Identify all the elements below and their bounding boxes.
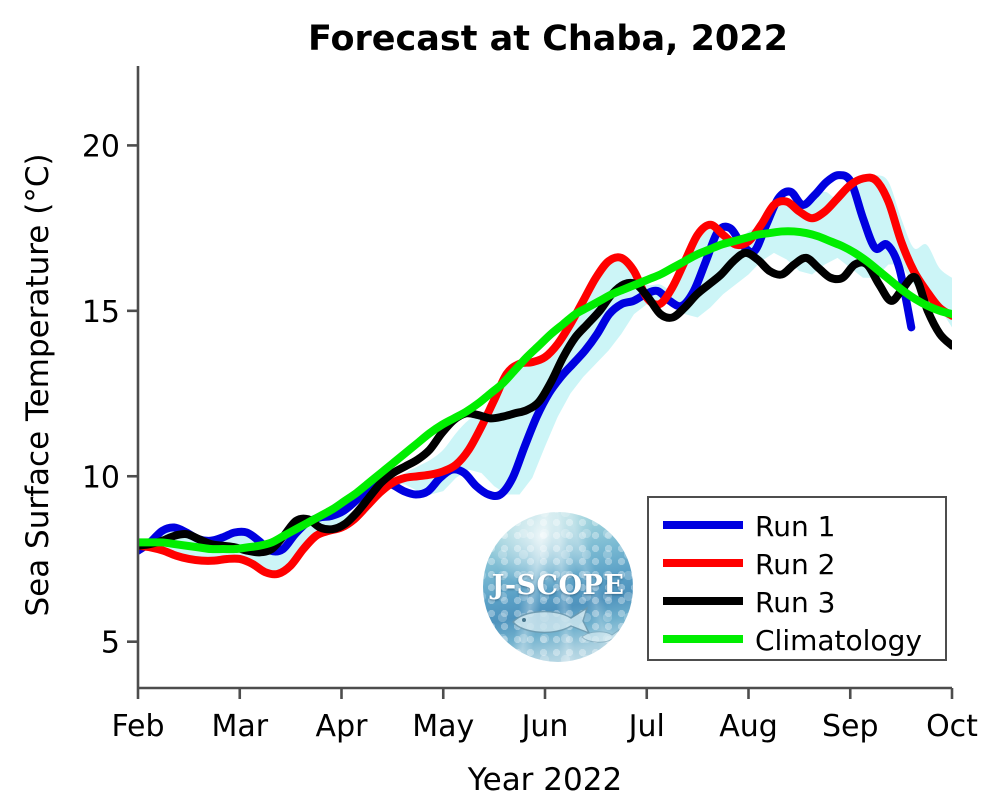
x-tick-label-jun: Jun [520, 709, 569, 744]
x-tick-label-jul: Jul [627, 709, 665, 744]
y-tick-label-5: 5 [101, 626, 120, 661]
y-tick-label-15: 15 [82, 295, 120, 330]
chart-figure: Forecast at Chaba, 2022 Sea Surface Temp… [0, 0, 1000, 806]
legend-label-run-2: Run 2 [755, 548, 835, 581]
x-tick-label-may: May [412, 709, 474, 744]
chart-legend: Run 1Run 2Run 3Climatology [648, 497, 946, 660]
x-tick-label-feb: Feb [111, 709, 164, 744]
x-tick-label-aug: Aug [719, 709, 778, 744]
legend-label-climatology: Climatology [755, 624, 922, 657]
y-tick-label-10: 10 [82, 460, 120, 495]
x-axis-label: Year 2022 [467, 762, 622, 798]
x-tick-label-sep: Sep [822, 709, 879, 744]
x-tick-label-oct: Oct [926, 709, 978, 744]
legend-label-run-3: Run 3 [755, 586, 835, 619]
x-tick-label-apr: Apr [316, 709, 369, 744]
y-tick-label-20: 20 [82, 129, 120, 164]
legend-label-run-1: Run 1 [755, 510, 835, 543]
x-tick-label-mar: Mar [211, 709, 268, 744]
logo-text: J-SCOPE [483, 570, 633, 601]
chart-title: Forecast at Chaba, 2022 [308, 19, 788, 59]
fish-small-icon [579, 628, 623, 646]
y-axis-label: Sea Surface Temperature (°C) [20, 153, 56, 616]
sst-forecast-line-chart: Forecast at Chaba, 2022 Sea Surface Temp… [0, 0, 1000, 806]
jscope-logo: J-SCOPE [483, 512, 633, 662]
